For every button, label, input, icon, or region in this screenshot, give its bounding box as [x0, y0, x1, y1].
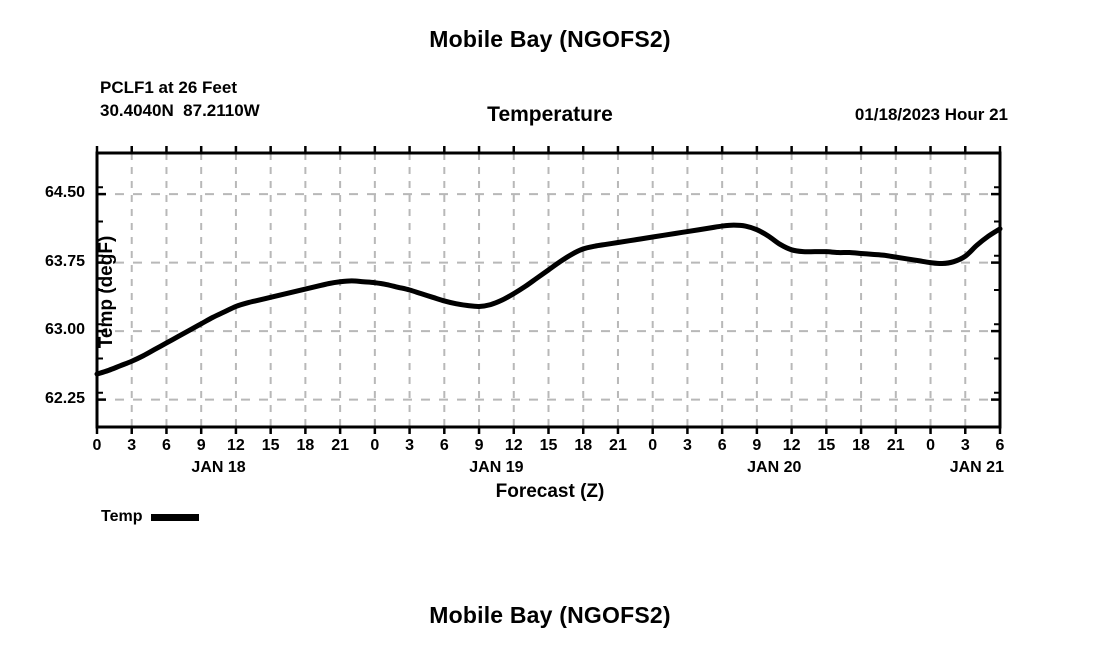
x-tick-label: 6 [980, 437, 1020, 455]
y-tick-label: 63.00 [0, 321, 85, 339]
y-tick-label: 63.75 [0, 253, 85, 271]
y-tick-label: 64.50 [0, 184, 85, 202]
grid-lines [97, 153, 1000, 427]
y-axis-title: Temp (degF) [96, 192, 118, 392]
legend-label-temp: Temp [101, 508, 142, 526]
chart-page: Mobile Bay (NGOFS2) PCLF1 at 26 Feet 30.… [0, 0, 1100, 650]
plot-area: Temp (degF) 62.2563.0063.7564.50 0369121… [0, 0, 1100, 650]
x-day-label: JAN 21 [917, 459, 1037, 477]
legend-swatch-temp [151, 514, 199, 521]
chart-legend: Temp [101, 508, 199, 526]
x-day-label: JAN 18 [159, 459, 279, 477]
x-axis-title: Forecast (Z) [0, 481, 1100, 503]
chart-svg [0, 0, 1100, 650]
y-tick-label: 62.25 [0, 390, 85, 408]
x-day-label: JAN 19 [436, 459, 556, 477]
page-title-bottom: Mobile Bay (NGOFS2) [0, 602, 1100, 629]
x-day-label: JAN 20 [714, 459, 834, 477]
axis-ticks [97, 146, 1000, 434]
